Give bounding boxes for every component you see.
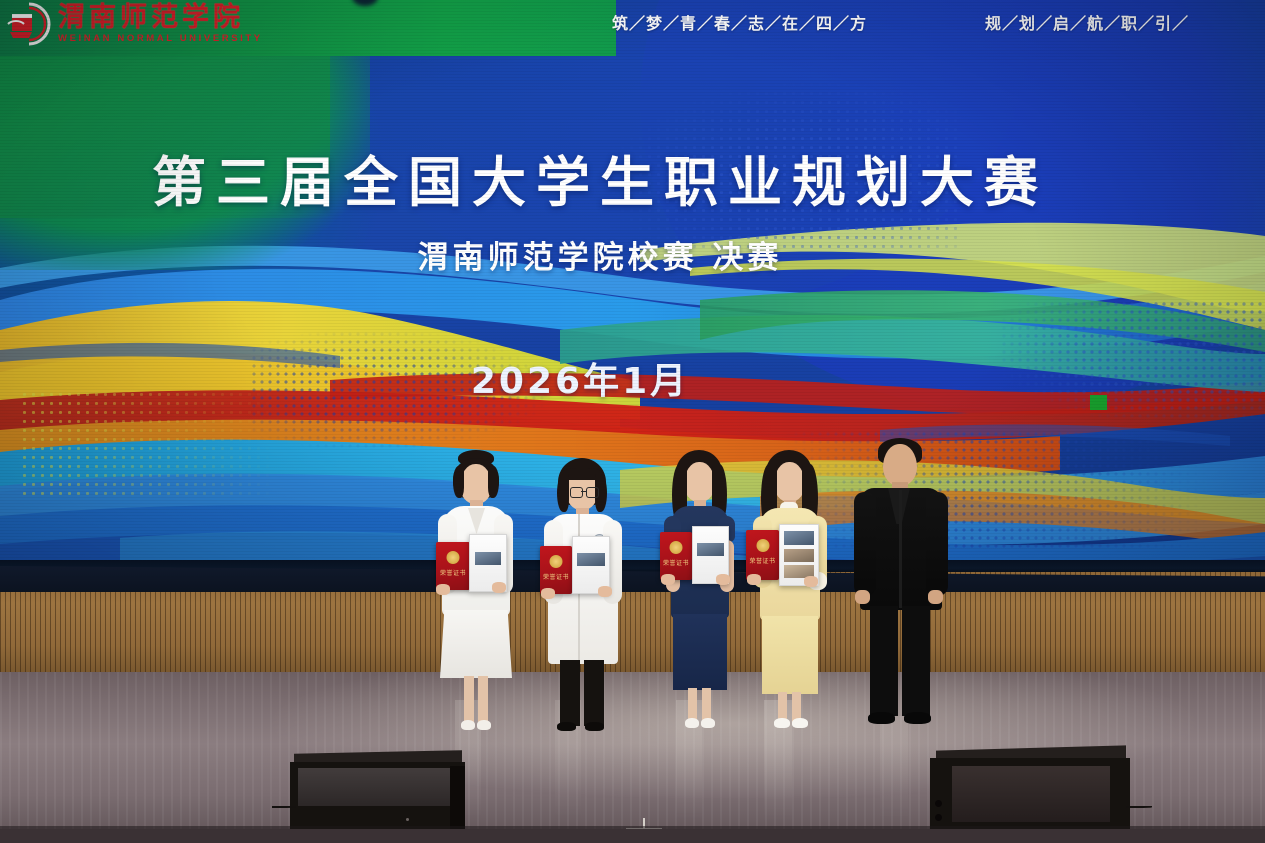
speaker-cable-left bbox=[272, 806, 296, 808]
trouser-left bbox=[870, 606, 898, 716]
head bbox=[684, 462, 715, 502]
hair-side-right bbox=[488, 466, 499, 498]
person-awardee-3: 荣誉证书 bbox=[648, 450, 748, 750]
logo-name-en: WEINAN NORMAL UNIVERSITY bbox=[58, 33, 263, 44]
screenshot-root: 渭南师范学院 WEINAN NORMAL UNIVERSITY 筑／梦／青／春／… bbox=[0, 0, 1265, 843]
shoe-left bbox=[774, 718, 790, 728]
halftone-pattern-yellow bbox=[20, 390, 320, 500]
leg-left bbox=[464, 676, 474, 724]
shoe-right bbox=[701, 718, 715, 728]
certificate: 荣誉证书 bbox=[540, 546, 572, 594]
event-date: 2026年1月 bbox=[0, 352, 1160, 404]
speaker-grille bbox=[952, 766, 1110, 822]
shoe-left bbox=[685, 718, 699, 728]
trouser-right bbox=[902, 606, 930, 716]
gift-box-image bbox=[697, 543, 724, 556]
jacket-seam bbox=[899, 490, 902, 608]
certificate-text: 荣誉证书 bbox=[436, 568, 470, 577]
trouser-right bbox=[584, 660, 604, 726]
arm-left bbox=[854, 492, 876, 596]
gift-box-image-1 bbox=[784, 531, 814, 545]
shoe-right bbox=[792, 718, 808, 728]
shoe-right bbox=[477, 720, 491, 730]
arm-right bbox=[926, 492, 948, 596]
person-awardee-2: 荣誉证书 bbox=[528, 456, 638, 751]
hand-left bbox=[661, 574, 675, 585]
hand-right bbox=[716, 574, 730, 585]
person-awardee-4: 荣誉证书 bbox=[738, 450, 838, 750]
hand-right bbox=[804, 576, 818, 587]
certificate-text: 荣誉证书 bbox=[540, 572, 572, 581]
person-presenter bbox=[846, 438, 956, 750]
hand-left bbox=[541, 588, 555, 599]
dress-skirt bbox=[762, 616, 818, 694]
hand-right bbox=[492, 582, 506, 593]
hand-left bbox=[855, 590, 870, 604]
certificate-seal-icon bbox=[756, 539, 769, 552]
certificate: 荣誉证书 bbox=[436, 542, 470, 590]
speaker-grille bbox=[298, 768, 450, 806]
shoe-right bbox=[585, 722, 604, 731]
shoe-left bbox=[868, 712, 895, 724]
stage-apron bbox=[0, 829, 1265, 843]
gift-box-image bbox=[577, 553, 605, 566]
event-subheadline: 渭南师范学院校赛 决赛 bbox=[0, 232, 1200, 277]
university-emblem-icon bbox=[6, 2, 52, 46]
head bbox=[883, 444, 917, 486]
leg-left bbox=[688, 688, 697, 722]
hand-right bbox=[928, 590, 943, 604]
shoe-left bbox=[557, 722, 576, 731]
gift-box-image-2 bbox=[784, 549, 814, 562]
hand-left bbox=[436, 584, 450, 595]
trouser-left bbox=[560, 660, 580, 726]
speaker-led-icon bbox=[406, 818, 409, 821]
hair-side-left bbox=[453, 466, 464, 498]
certificate-seal-icon bbox=[550, 555, 563, 568]
tagline-left: 筑／梦／青／春／志／在／四／方 bbox=[612, 10, 867, 34]
event-headline: 第三届全国大学生职业规划大赛 bbox=[0, 155, 1200, 212]
certificate-seal-icon bbox=[447, 551, 460, 564]
certificate-text: 荣誉证书 bbox=[660, 558, 692, 567]
leg-right bbox=[478, 676, 488, 724]
tagline-right: 规／划／启／航／职／引／ bbox=[985, 10, 1189, 34]
certificate-text: 荣誉证书 bbox=[746, 556, 779, 565]
glasses-icon bbox=[570, 487, 598, 497]
hair-side-left bbox=[557, 474, 569, 512]
qipao-skirt bbox=[673, 614, 727, 690]
speaker-port-2 bbox=[935, 814, 942, 821]
speaker-cable-right bbox=[1126, 806, 1152, 808]
certificate: 荣誉证书 bbox=[746, 530, 779, 580]
leg-right bbox=[702, 688, 711, 722]
gift-box-image bbox=[475, 552, 501, 565]
university-logo: 渭南师范学院 WEINAN NORMAL UNIVERSITY bbox=[6, 2, 263, 46]
hand-left bbox=[747, 574, 761, 585]
certificate: 荣誉证书 bbox=[660, 532, 692, 580]
skirt bbox=[440, 610, 512, 678]
head bbox=[774, 462, 805, 502]
hand-right bbox=[598, 586, 612, 597]
speaker-port-1 bbox=[935, 800, 942, 807]
person-awardee-1: 荣誉证书 bbox=[420, 450, 530, 750]
certificate-seal-icon bbox=[670, 541, 683, 554]
shoe-left bbox=[461, 720, 475, 730]
logo-name-cn: 渭南师范学院 bbox=[58, 4, 263, 31]
shoe-right bbox=[904, 712, 931, 724]
